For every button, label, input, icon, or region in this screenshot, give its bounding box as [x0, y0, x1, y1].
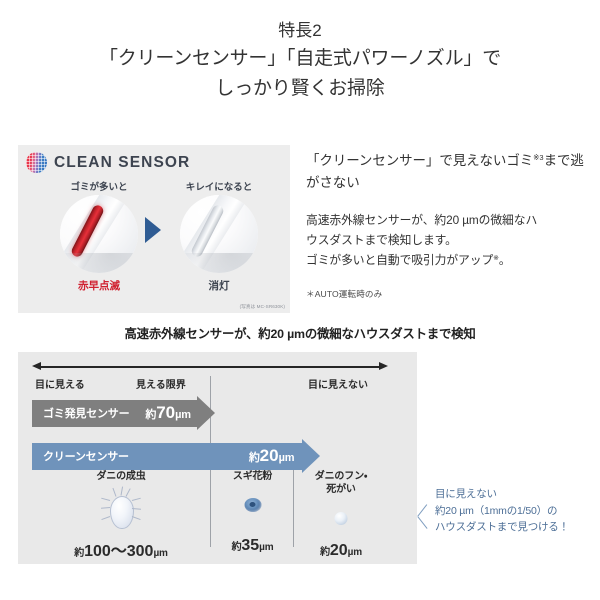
size-prefix: 約 — [74, 548, 84, 559]
specimen-name: ダニの成虫 — [32, 470, 210, 483]
description-lead: 「クリーンセンサー」で見えないゴミ※3まで逃がさない — [306, 150, 588, 194]
bar-value-number: 20 — [260, 446, 279, 465]
photo-sensor-off — [180, 195, 258, 273]
bar-label-name: ゴミ発見センサー — [43, 405, 129, 421]
bar-value: 約70µm — [145, 403, 196, 423]
bar-value-number: 70 — [156, 403, 175, 422]
photo-caption-clean: キレイになると — [164, 179, 274, 193]
mite-leg — [101, 498, 110, 501]
photo-sensor-red — [60, 195, 138, 273]
bracket-stroke-lower — [417, 516, 427, 529]
specimen-size: 約35µm — [212, 537, 293, 555]
chart-title: 高速赤外線センサーが、約20 µmの微細なハウスダストまで検知 — [0, 324, 600, 342]
axis-label-visible: 目に見える — [35, 376, 85, 391]
photo-shadow — [180, 253, 258, 273]
callout-line-3: ハウスダストまで見つける！ — [435, 521, 569, 533]
size-value: 35 — [241, 537, 259, 554]
mite-leg — [121, 487, 124, 496]
mite-leg — [101, 507, 110, 509]
bar-value-unit: µm — [279, 452, 295, 464]
description-body: クリーンセンサー高速赤外線センサーが、約20 µmの微細なハウスダストまで検知し… — [306, 210, 588, 271]
dust-particle-icon — [335, 512, 348, 525]
mite-leg — [112, 488, 116, 497]
specimen-dust-mite: ダニの成虫 約100〜300µm — [32, 470, 210, 561]
specimen-name: ダニのフン・死がい — [294, 470, 388, 496]
photo-credit: (写真は MC-SR630K) — [240, 304, 285, 310]
description-column: 「クリーンセンサー」で見えないゴミ※3まで逃がさない クリーンセンサー高速赤外線… — [306, 150, 588, 300]
size-unit: µm — [348, 547, 362, 558]
specimen-name-line1: ダニのフン・ — [315, 471, 367, 482]
page-title: 特長2 「クリーンセンサー」「自走式パワーノズル」で しっかり賢くお掃除 — [0, 18, 600, 103]
clean-sensor-logo: CLEAN SENSOR — [26, 152, 190, 173]
body-line-1: 高速赤外線センサーが、約20 µmの微細なハ — [306, 213, 537, 227]
bar-label-name: クリーンセンサー — [43, 448, 129, 464]
triangle-right-icon — [145, 217, 161, 243]
axis-line — [40, 366, 380, 368]
angle-bracket-left-icon — [412, 492, 428, 540]
state-label-light-off: 消灯 — [164, 278, 274, 293]
photo-caption-dirty: ゴミが多いと — [44, 179, 154, 193]
bar-body: ゴミ発見センサー 約70µm — [32, 400, 197, 427]
size-value: 100〜300 — [84, 543, 153, 560]
clean-sensor-panel: CLEAN SENSOR ゴミが多いと キレイになると 赤早点滅 消灯 (写真は… — [18, 145, 290, 313]
pixel-circle-icon — [26, 152, 47, 173]
bar-arrow-tip — [197, 396, 215, 430]
callout-line-1: 目に見えない — [435, 488, 497, 500]
bar-clean-sensor: クリーンセンサー 約20µm — [32, 439, 320, 473]
bar-arrow-tip — [302, 439, 320, 473]
size-prefix: 約 — [232, 542, 242, 553]
body-line-3: ゴミが多いと自動で吸引力がアップ — [306, 253, 493, 267]
callout-text: 目に見えない 約20 µm（1mmの1/50）の ハウスダストまで見つける！ — [435, 486, 595, 536]
particle-size-chart: 目に見える 見える限界 目に見えない ゴミ発見センサー 約70µm クリーンセン… — [18, 352, 417, 564]
mite-leg — [132, 498, 141, 501]
footnote-marker-3: ※3 — [533, 153, 543, 162]
dust-mite-icon — [99, 489, 143, 535]
size-value: 20 — [330, 542, 348, 559]
page-title-line3: しっかり賢くお掃除 — [0, 74, 600, 103]
mite-leg — [101, 516, 110, 520]
specimen-size: 約100〜300µm — [32, 537, 210, 561]
specimen-cedar-pollen: スギ花粉 約35µm — [212, 470, 293, 555]
axis-label-visible-limit: 見える限界 — [136, 376, 186, 391]
size-unit: µm — [259, 542, 273, 553]
state-label-blinking-red: 赤早点滅 — [44, 278, 154, 293]
description-lead-main: 「クリーンセンサー」で見えないゴミ — [306, 153, 533, 168]
specimen-size: 約20µm — [294, 542, 388, 560]
body-line-2: ウスダストまで検知します。 — [306, 233, 457, 247]
photo-shadow — [60, 253, 138, 273]
chart-axis — [32, 362, 388, 371]
specimen-art — [32, 485, 210, 537]
specimen-art — [212, 485, 293, 537]
chart-callout: 目に見えない 約20 µm（1mmの1/50）の ハウスダストまで見つける！ — [435, 486, 595, 536]
specimen-mite-waste: ダニのフン・死がい 約20µm — [294, 470, 388, 560]
bar-dust-detection-sensor: ゴミ発見センサー 約70µm — [32, 396, 215, 430]
bar-body: クリーンセンサー 約20µm — [32, 443, 302, 470]
specimen-art — [294, 498, 388, 542]
bar-value: 約20µm — [249, 446, 302, 466]
specimen-name-line2: 死がい — [326, 484, 355, 495]
size-unit: µm — [153, 548, 167, 559]
mite-torso — [110, 496, 134, 529]
size-prefix: 約 — [320, 547, 330, 558]
callout-line-2: 約20 µm（1mmの1/50）の — [435, 505, 557, 517]
bar-value-unit: µm — [175, 409, 191, 421]
mite-leg — [126, 489, 131, 497]
body-line-3-tail: 。 — [499, 253, 511, 267]
description-footnote: ＊AUTO運転時のみ — [306, 288, 588, 300]
cedar-pollen-icon — [244, 498, 261, 512]
bar-value-prefix: 約 — [249, 452, 260, 464]
clean-sensor-wordmark: CLEAN SENSOR — [54, 154, 190, 172]
arrow-right-icon — [379, 362, 388, 370]
bar-value-prefix: 約 — [145, 409, 156, 421]
page-title-line1: 特長2 — [0, 18, 600, 44]
mite-leg — [132, 516, 141, 520]
axis-label-invisible: 目に見えない — [308, 376, 368, 391]
bracket-stroke-upper — [417, 504, 427, 517]
page-title-line2: 「クリーンセンサー」「自走式パワーノズル」で — [0, 44, 600, 73]
specimen-name: スギ花粉 — [212, 470, 293, 483]
